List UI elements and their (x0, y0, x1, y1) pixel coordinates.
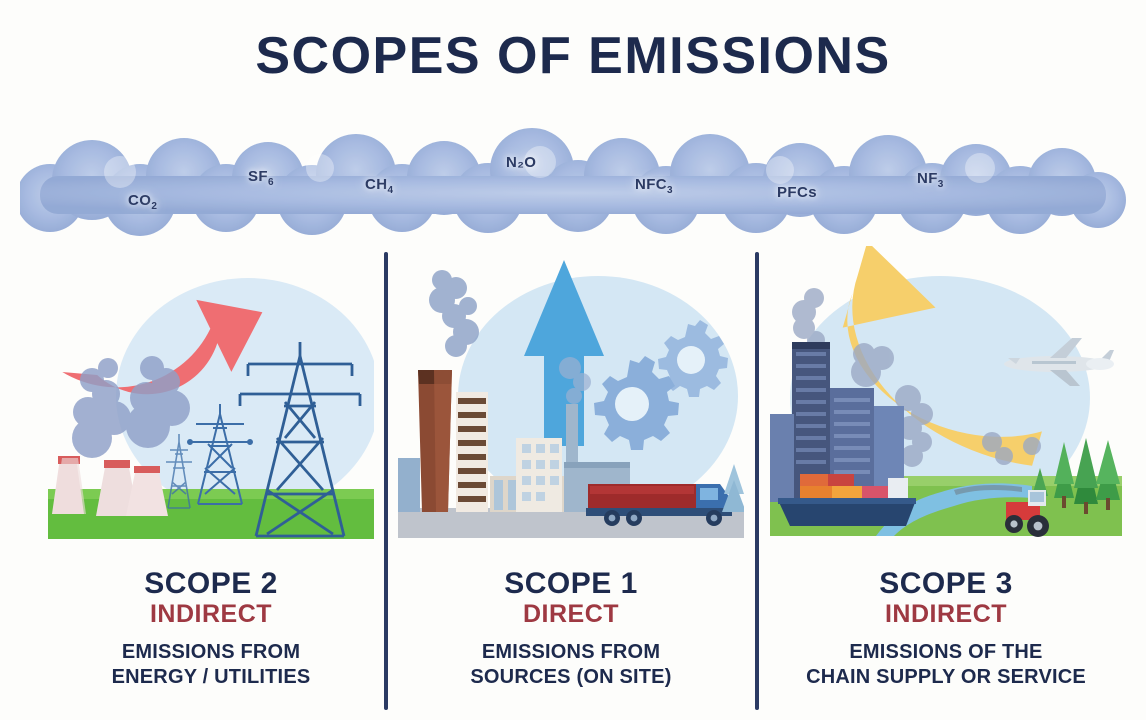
gas-label-n2o: N₂O (506, 154, 536, 171)
scope-description: EMISSIONS FROM SOURCES (ON SITE) (398, 640, 744, 689)
conifer-tree (722, 464, 744, 512)
smokestack (418, 370, 452, 512)
gas-label-pfcs: PFCs (777, 184, 817, 201)
column-scope2: SCOPE 2 INDIRECT EMISSIONS FROM ENERGY /… (48, 246, 374, 716)
gas-label-sf6: SF6 (248, 168, 274, 188)
gas-label-nf3: NF3 (917, 170, 944, 190)
power-plant-scene (48, 246, 374, 546)
caption-scope3: SCOPE 3 INDIRECT EMISSIONS OF THE CHAIN … (770, 568, 1122, 689)
scope-kind-label: INDIRECT (48, 600, 374, 630)
scope-label: SCOPE 2 (48, 568, 374, 600)
scope-kind-label: INDIRECT (770, 600, 1122, 630)
description-line-2: CHAIN SUPPLY OR SERVICE (770, 665, 1122, 689)
description-line-1: EMISSIONS OF THE (770, 640, 1122, 664)
factory-scene (398, 246, 744, 546)
scope-label: SCOPE 3 (770, 568, 1122, 600)
scope-kind-label: DIRECT (398, 600, 744, 630)
infographic-canvas: SCOPES OF EMISSIONS (0, 0, 1146, 720)
page-title: SCOPES OF EMISSIONS (0, 26, 1146, 86)
description-line-2: SOURCES (ON SITE) (398, 665, 744, 689)
gas-label-ch4: CH4 (365, 176, 393, 196)
scope-description: EMISSIONS FROM ENERGY / UTILITIES (48, 640, 374, 689)
column-scope1: SCOPE 1 DIRECT EMISSIONS FROM SOURCES (O… (398, 246, 744, 716)
supply-chain-scene (770, 246, 1122, 546)
gas-label-nfc3: NFC3 (635, 176, 673, 196)
greenhouse-gas-cloud: CO2 SF6 CH4 N₂O NFC3 PFCs NF3 (20, 128, 1126, 240)
column-divider-left (384, 252, 388, 710)
column-scope3: SCOPE 3 INDIRECT EMISSIONS OF THE CHAIN … (770, 246, 1122, 716)
description-line-1: EMISSIONS FROM (398, 640, 744, 664)
column-divider-right (755, 252, 759, 710)
caption-scope1: SCOPE 1 DIRECT EMISSIONS FROM SOURCES (O… (398, 568, 744, 689)
description-line-1: EMISSIONS FROM (48, 640, 374, 664)
smoke-plumes (429, 270, 479, 357)
scope-label: SCOPE 1 (398, 568, 744, 600)
scope-description: EMISSIONS OF THE CHAIN SUPPLY OR SERVICE (770, 640, 1122, 689)
description-line-2: ENERGY / UTILITIES (48, 665, 374, 689)
caption-scope2: SCOPE 2 INDIRECT EMISSIONS FROM ENERGY /… (48, 568, 374, 689)
gas-label-co2: CO2 (128, 192, 157, 212)
